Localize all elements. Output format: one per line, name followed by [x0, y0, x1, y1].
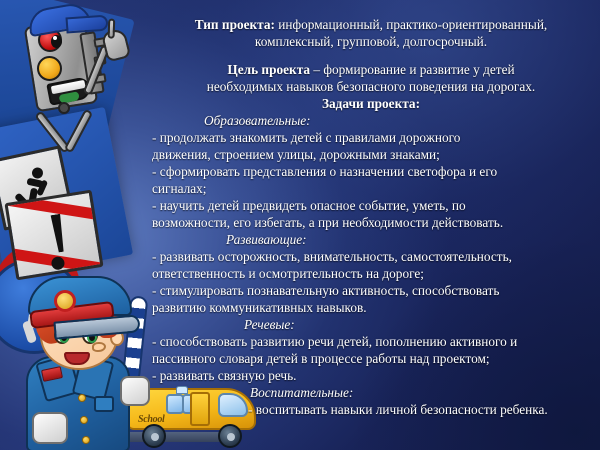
police-cap-cockade-icon [54, 290, 76, 312]
task-item: - воспитывать навыки личной безопасности… [152, 401, 590, 418]
exclamation-warning-sign [4, 190, 103, 281]
slide-text-body: Тип проекта: информационный, практико-ор… [152, 16, 590, 418]
task-item: - способствовать развитию речи детей, по… [152, 333, 590, 350]
wheel-hub [227, 433, 235, 441]
bus-wheel [218, 424, 242, 448]
mascot-lower-arm-right [64, 109, 94, 154]
project-type-line-1: Тип проекта: информационный, практико-ор… [152, 16, 590, 33]
policeman-glove-right [120, 376, 150, 406]
jacket-button [78, 394, 86, 402]
section-heading-developmental: Развивающие: [152, 231, 590, 248]
project-type-line-2: комплексный, групповой, долгосрочный. [152, 33, 590, 50]
task-item: - развивать связную речь. [152, 367, 590, 384]
task-item: - стимулировать познавательную активност… [152, 282, 590, 299]
section-heading-upbringing: Воспитательные: [152, 384, 590, 401]
section-heading-speech: Речевые: [152, 316, 590, 333]
project-type-value: информационный, практико-ориентированный… [275, 17, 547, 32]
section-heading-educational: Образовательные: [152, 112, 590, 129]
jacket-pocket [94, 396, 114, 412]
jacket-button [80, 416, 88, 424]
boy-traffic-policeman [6, 272, 176, 450]
mascot-index-finger [108, 19, 116, 39]
project-goal-line-2: необходимых навыков безопасного поведени… [152, 78, 590, 95]
task-item: движения, строением улицы, дорожными зна… [152, 146, 590, 163]
task-item: пассивного словаря детей в процессе рабо… [152, 350, 590, 367]
task-item: - сформировать представления о назначени… [152, 163, 590, 180]
tasks-heading: Задачи проекта: [152, 95, 590, 112]
traffic-light-mascot [8, 4, 148, 154]
presentation-slide: School [0, 0, 600, 450]
exclamation-mark-icon [48, 213, 69, 253]
eye-glint [53, 36, 57, 40]
jacket-button [82, 436, 90, 444]
project-goal-line-1: Цель проекта – формирование и развитие у… [152, 61, 590, 78]
task-item: сигналах; [152, 180, 590, 197]
spacer [152, 50, 590, 61]
task-item: развитию коммуникативных навыков. [152, 299, 590, 316]
yellow-lamp-icon [37, 56, 62, 81]
task-item: - развивать осторожность, внимательность… [152, 248, 590, 265]
project-type-label: Тип проекта: [195, 17, 275, 32]
mascot-neck-joint [58, 102, 70, 114]
task-item: - научить детей предвидеть опасное событ… [152, 197, 590, 214]
figure-head [31, 167, 44, 180]
task-item: - продолжать знакомить детей с правилами… [152, 129, 590, 146]
project-goal-label: Цель проекта [227, 62, 310, 77]
task-item: возможности, его избегать, а при необход… [152, 214, 590, 231]
mascot-cap-brim [65, 15, 108, 34]
project-goal-value: – формирование и развитие у детей [310, 62, 515, 77]
task-item: ответственность и осмотрительность на до… [152, 265, 590, 282]
policeman-glove-left [32, 412, 68, 444]
